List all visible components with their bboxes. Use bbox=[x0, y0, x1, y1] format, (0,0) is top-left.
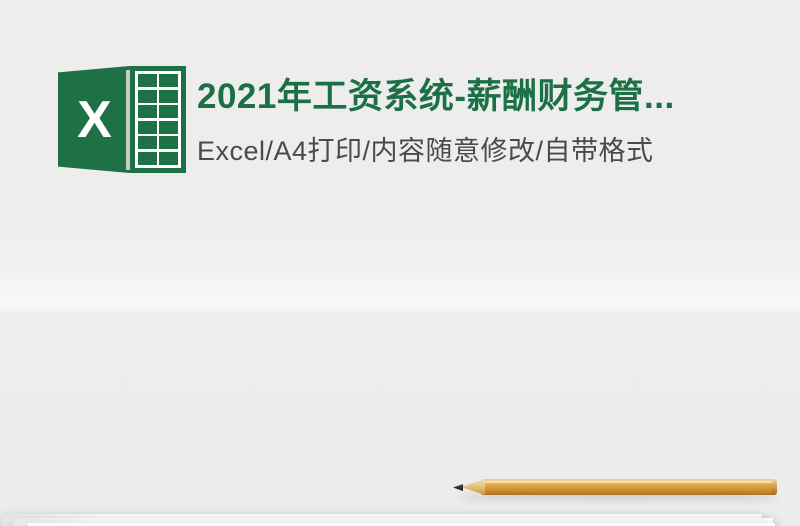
page-title: 2021年工资系统-薪酬财务管... bbox=[197, 74, 777, 120]
excel-icon-grid-cell bbox=[159, 105, 178, 118]
excel-icon-grid-cell bbox=[138, 121, 157, 134]
excel-icon-grid-cell bbox=[138, 90, 157, 103]
excel-file-icon: X bbox=[58, 62, 186, 177]
excel-icon-grid-cell bbox=[159, 90, 178, 103]
excel-icon-grid-cell bbox=[159, 152, 178, 165]
excel-icon-grid-cell bbox=[138, 136, 157, 149]
excel-icon-grid-cell bbox=[159, 136, 178, 149]
pencil-highlight bbox=[482, 481, 777, 484]
excel-icon-grid-cell bbox=[159, 74, 178, 87]
screenshot-canvas: X 2021年工资系统-薪酬 bbox=[0, 0, 800, 526]
excel-icon-grid bbox=[135, 71, 181, 168]
excel-icon-grid-cell bbox=[159, 121, 178, 134]
pencil-wood-cone bbox=[461, 479, 485, 495]
excel-icon-grid-cell bbox=[138, 74, 157, 87]
excel-icon-sheet bbox=[130, 66, 186, 173]
excel-icon-grid-cell bbox=[138, 152, 157, 165]
pencil-graphite-tip bbox=[453, 484, 463, 491]
template-preview-image: 工资管理系统 bbox=[0, 225, 800, 526]
pencil-prop bbox=[452, 475, 777, 501]
header-banner: X 2021年工资系统-薪酬 bbox=[0, 0, 800, 225]
page-subtitle: Excel/A4打印/内容随意修改/自带格式 bbox=[197, 131, 777, 171]
pencil-end-cap bbox=[772, 479, 777, 495]
excel-icon-letter: X bbox=[58, 66, 130, 173]
excel-icon-grid-cell bbox=[138, 105, 157, 118]
